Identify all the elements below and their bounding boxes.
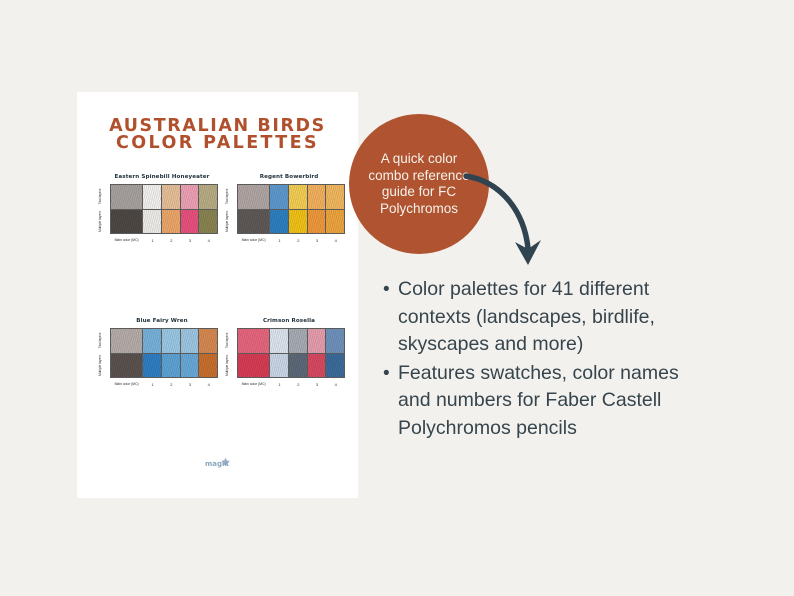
swatch-cell (199, 210, 217, 234)
pencil-texture (162, 210, 180, 234)
palette-title: Crimson Rosella (233, 318, 345, 324)
palette-title: Eastern Spinebill Honeyeater (106, 174, 218, 180)
swatch-cell (308, 185, 327, 209)
pencil-texture (308, 354, 326, 378)
palette-title: Blue Fairy Wren (106, 318, 218, 324)
swatch-cell (181, 185, 200, 209)
swatch-matrix (110, 328, 218, 378)
pencil-texture (199, 185, 217, 209)
brand-logo: magik (77, 456, 358, 475)
palette-title: Regent Bowerbird (233, 174, 345, 180)
pencil-texture (289, 210, 307, 234)
swatch-cell (289, 210, 308, 234)
pencil-texture (308, 210, 326, 234)
pencil-texture (181, 210, 199, 234)
pencil-texture (181, 354, 199, 378)
swatch-cell (289, 185, 308, 209)
list-item: • Color palettes for 41 different contex… (383, 276, 713, 359)
y-label-multiple-layers: Multiple layers (99, 353, 108, 378)
palette-y-axis: Two layers Multiple layers (100, 328, 109, 378)
pencil-texture (238, 354, 269, 378)
pencil-texture (111, 329, 142, 353)
poster-title-line2: COLOR PALETTES (77, 135, 358, 152)
swatch-cell (181, 329, 200, 353)
pencil-texture (326, 354, 344, 378)
palette-card-blue-fairy-wren: Blue Fairy Wren Two layers Multiple laye… (100, 318, 218, 378)
pencil-texture (143, 329, 161, 353)
pencil-texture (199, 210, 217, 234)
pencil-texture (270, 329, 288, 353)
pencil-texture (238, 329, 269, 353)
pencil-texture (162, 329, 180, 353)
swatch-cell (181, 354, 200, 378)
bullet-icon: • (383, 276, 398, 304)
swatch-row-two-layers (111, 329, 217, 354)
x-tick: 1 (143, 382, 162, 387)
swatch-row-multiple-layers (111, 210, 217, 234)
x-tick: 1 (143, 238, 162, 243)
pencil-texture (143, 210, 161, 234)
swatch-cell (308, 329, 327, 353)
palette-card-crimson-rosella: Crimson Rosella Two layers Multiple laye… (227, 318, 345, 378)
swatch-cell (326, 329, 344, 353)
swatch-cell (199, 185, 217, 209)
palette-chart: Two layers Multiple layers (227, 184, 345, 234)
x-tick: 3 (181, 238, 200, 243)
swatch-matrix (237, 184, 345, 234)
pencil-texture (289, 185, 307, 209)
swatch-cell (143, 354, 162, 378)
palette-y-axis: Two layers Multiple layers (227, 328, 236, 378)
swatch-row-multiple-layers (238, 210, 344, 234)
swatch-matrix (110, 184, 218, 234)
swatch-cell (162, 354, 181, 378)
feature-list: • Color palettes for 41 different contex… (383, 276, 713, 443)
list-item: • Features swatches, color names and num… (383, 360, 713, 443)
x-tick: 3 (308, 382, 327, 387)
y-label-two-layers: Two layers (99, 328, 108, 353)
swatch-row-two-layers (238, 185, 344, 210)
palette-chart: Two layers Multiple layers (100, 328, 218, 378)
swatch-cell (289, 329, 308, 353)
swatch-row-two-layers (238, 329, 344, 354)
swatch-cell (270, 329, 289, 353)
pencil-texture (326, 210, 344, 234)
pencil-texture (143, 354, 161, 378)
palette-card-regent-bowerbird: Regent Bowerbird Two layers Multiple lay… (227, 174, 345, 234)
swatch-cell (111, 354, 143, 378)
callout-text: A quick color combo reference guide for … (359, 151, 479, 217)
pencil-texture (199, 329, 217, 353)
pencil-texture (111, 354, 142, 378)
swatch-cell (111, 329, 143, 353)
pencil-texture (238, 210, 269, 234)
pencil-texture (162, 354, 180, 378)
poster-title: AUSTRALIAN BIRDS COLOR PALETTES (77, 118, 358, 152)
pencil-texture (238, 185, 269, 209)
pencil-texture (270, 210, 288, 234)
pencil-texture (162, 185, 180, 209)
palette-y-axis: Two layers Multiple layers (227, 184, 236, 234)
palette-x-axis: Main color (MC) 1 2 3 4 (110, 380, 218, 388)
palette-chart: Two layers Multiple layers (100, 184, 218, 234)
x-tick: 4 (326, 382, 345, 387)
pencil-texture (111, 210, 142, 234)
x-tick: 4 (199, 382, 218, 387)
swatch-cell (162, 329, 181, 353)
pencil-texture (181, 185, 199, 209)
palette-card-eastern-spinebill-honeyeater: Eastern Spinebill Honeyeater Two layers … (100, 174, 218, 234)
swatch-cell (308, 210, 327, 234)
swatch-cell (199, 354, 217, 378)
x-tick: 4 (326, 238, 345, 243)
list-item-text: Color palettes for 41 different contexts… (398, 276, 713, 359)
swatch-cell (238, 329, 270, 353)
x-tick: 1 (270, 382, 289, 387)
pencil-texture (308, 185, 326, 209)
palette-y-axis: Two layers Multiple layers (100, 184, 109, 234)
x-label-main-color: Main color (MC) (237, 238, 270, 242)
swatch-cell (270, 185, 289, 209)
x-tick: 3 (308, 238, 327, 243)
x-tick: 2 (162, 382, 181, 387)
swatch-cell (326, 354, 344, 378)
x-tick: 2 (289, 382, 308, 387)
x-tick: 2 (162, 238, 181, 243)
palette-x-axis: Main color (MC) 1 2 3 4 (237, 380, 345, 388)
swatch-row-multiple-layers (111, 354, 217, 378)
swatch-cell (326, 210, 344, 234)
swatch-cell (143, 329, 162, 353)
palette-chart: Two layers Multiple layers (227, 328, 345, 378)
product-poster-page: AUSTRALIAN BIRDS COLOR PALETTES Eastern … (77, 92, 358, 498)
x-tick: 3 (181, 382, 200, 387)
pencil-texture (289, 354, 307, 378)
swatch-cell (238, 210, 270, 234)
pencil-texture (199, 354, 217, 378)
swatch-cell (270, 210, 289, 234)
pencil-texture (326, 329, 344, 353)
swatch-row-multiple-layers (238, 354, 344, 378)
y-label-two-layers: Two layers (99, 184, 108, 209)
swatch-cell (289, 354, 308, 378)
swatch-matrix (237, 328, 345, 378)
swatch-cell (199, 329, 217, 353)
x-label-main-color: Main color (MC) (237, 382, 270, 386)
y-label-two-layers: Two layers (226, 328, 235, 353)
swatch-cell (308, 354, 327, 378)
pencil-texture (289, 329, 307, 353)
bullet-icon: • (383, 360, 398, 388)
swatch-cell (326, 185, 344, 209)
palette-x-axis: Main color (MC) 1 2 3 4 (237, 236, 345, 244)
swatch-cell (162, 185, 181, 209)
swatch-cell (143, 185, 162, 209)
swatch-cell (238, 354, 270, 378)
pencil-texture (143, 185, 161, 209)
swatch-cell (238, 185, 270, 209)
x-tick: 2 (289, 238, 308, 243)
curved-down-arrow-icon (462, 170, 562, 280)
pencil-texture (270, 354, 288, 378)
swatch-cell (270, 354, 289, 378)
y-label-two-layers: Two layers (226, 184, 235, 209)
swatch-cell (111, 185, 143, 209)
palette-x-axis: Main color (MC) 1 2 3 4 (110, 236, 218, 244)
x-label-main-color: Main color (MC) (110, 382, 143, 386)
pencil-texture (326, 185, 344, 209)
swatch-cell (181, 210, 200, 234)
x-tick: 1 (270, 238, 289, 243)
pencil-texture (308, 329, 326, 353)
swatch-cell (111, 210, 143, 234)
x-tick: 4 (199, 238, 218, 243)
swatch-cell (162, 210, 181, 234)
pencil-texture (270, 185, 288, 209)
pencil-texture (181, 329, 199, 353)
swatch-cell (143, 210, 162, 234)
y-label-multiple-layers: Multiple layers (226, 353, 235, 378)
y-label-multiple-layers: Multiple layers (226, 209, 235, 234)
x-label-main-color: Main color (MC) (110, 238, 143, 242)
pencil-texture (111, 185, 142, 209)
swatch-row-two-layers (111, 185, 217, 210)
y-label-multiple-layers: Multiple layers (99, 209, 108, 234)
list-item-text: Features swatches, color names and numbe… (398, 360, 713, 443)
